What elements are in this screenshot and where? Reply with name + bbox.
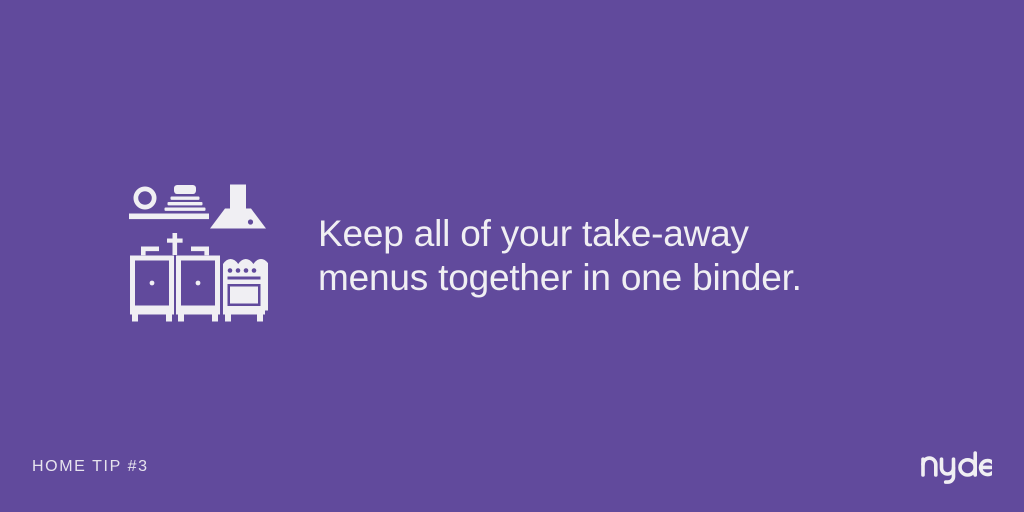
tip-number-label: HOME TIP #3 <box>32 458 149 476</box>
faucet-icon <box>141 233 209 255</box>
plate-icon <box>134 187 157 210</box>
dish-stack-icon <box>165 185 206 211</box>
nyde-logo[interactable]: nyde <box>920 445 992 485</box>
oven-icon <box>223 259 268 322</box>
cabinet-icon <box>130 256 174 322</box>
headline-text: Keep all of your take-away menus togethe… <box>318 212 918 300</box>
cabinet-icon <box>176 256 220 322</box>
range-hood-icon <box>210 185 266 229</box>
shelf-icon <box>129 214 209 220</box>
kitchen-illustration <box>126 184 268 322</box>
home-tip-card: Keep all of your take-away menus togethe… <box>0 0 1024 512</box>
